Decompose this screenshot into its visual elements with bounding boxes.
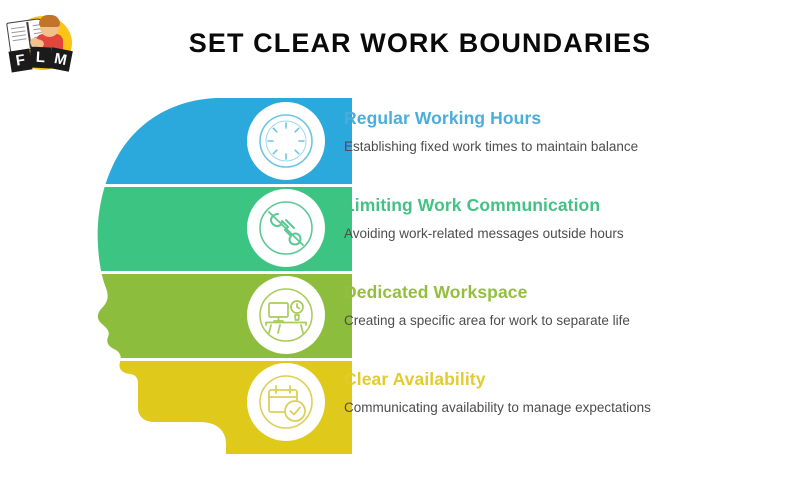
logo-child-hair (39, 15, 60, 27)
section-4-description: Communicating availability to manage exp… (344, 399, 794, 417)
section-clear-availability[interactable]: Clear Availability Communicating availab… (247, 360, 800, 446)
section-2-heading: Limiting Work Communication (344, 194, 794, 216)
section-3-heading: Dedicated Workspace (344, 281, 794, 303)
logo-letter-tiles: F L M (6, 46, 80, 72)
section-4-text: Clear Availability Communicating availab… (344, 368, 794, 417)
section-1-text: Regular Working Hours Establishing fixed… (344, 107, 794, 156)
section-regular-working-hours[interactable]: Regular Working Hours Establishing fixed… (247, 99, 800, 185)
flm-logo[interactable]: F L M (6, 12, 80, 74)
calendar-check-icon (256, 372, 316, 432)
phone-off-icon (256, 198, 316, 258)
page-title: SET CLEAR WORK BOUNDARIES (120, 28, 720, 59)
phone-off-badge (247, 189, 325, 267)
section-limiting-work-communication[interactable]: Limiting Work Communication Avoiding wor… (247, 186, 800, 272)
section-3-description: Creating a specific area for work to sep… (344, 312, 794, 330)
calendar-badge (247, 363, 325, 441)
desk-workspace-icon (256, 285, 316, 345)
clock-icon (256, 111, 316, 171)
section-2-text: Limiting Work Communication Avoiding wor… (344, 194, 794, 243)
section-dedicated-workspace[interactable]: Dedicated Workspace Creating a specific … (247, 273, 800, 359)
section-3-text: Dedicated Workspace Creating a specific … (344, 281, 794, 330)
logo-tile-m: M (48, 47, 73, 72)
section-1-description: Establishing fixed work times to maintai… (344, 138, 794, 156)
section-1-heading: Regular Working Hours (344, 107, 794, 129)
section-4-heading: Clear Availability (344, 368, 794, 390)
infographic-canvas: F L M SET CLEAR WORK BOUNDARIES (0, 0, 800, 500)
section-2-description: Avoiding work-related messages outside h… (344, 225, 794, 243)
workspace-badge (247, 276, 325, 354)
clock-badge (247, 102, 325, 180)
